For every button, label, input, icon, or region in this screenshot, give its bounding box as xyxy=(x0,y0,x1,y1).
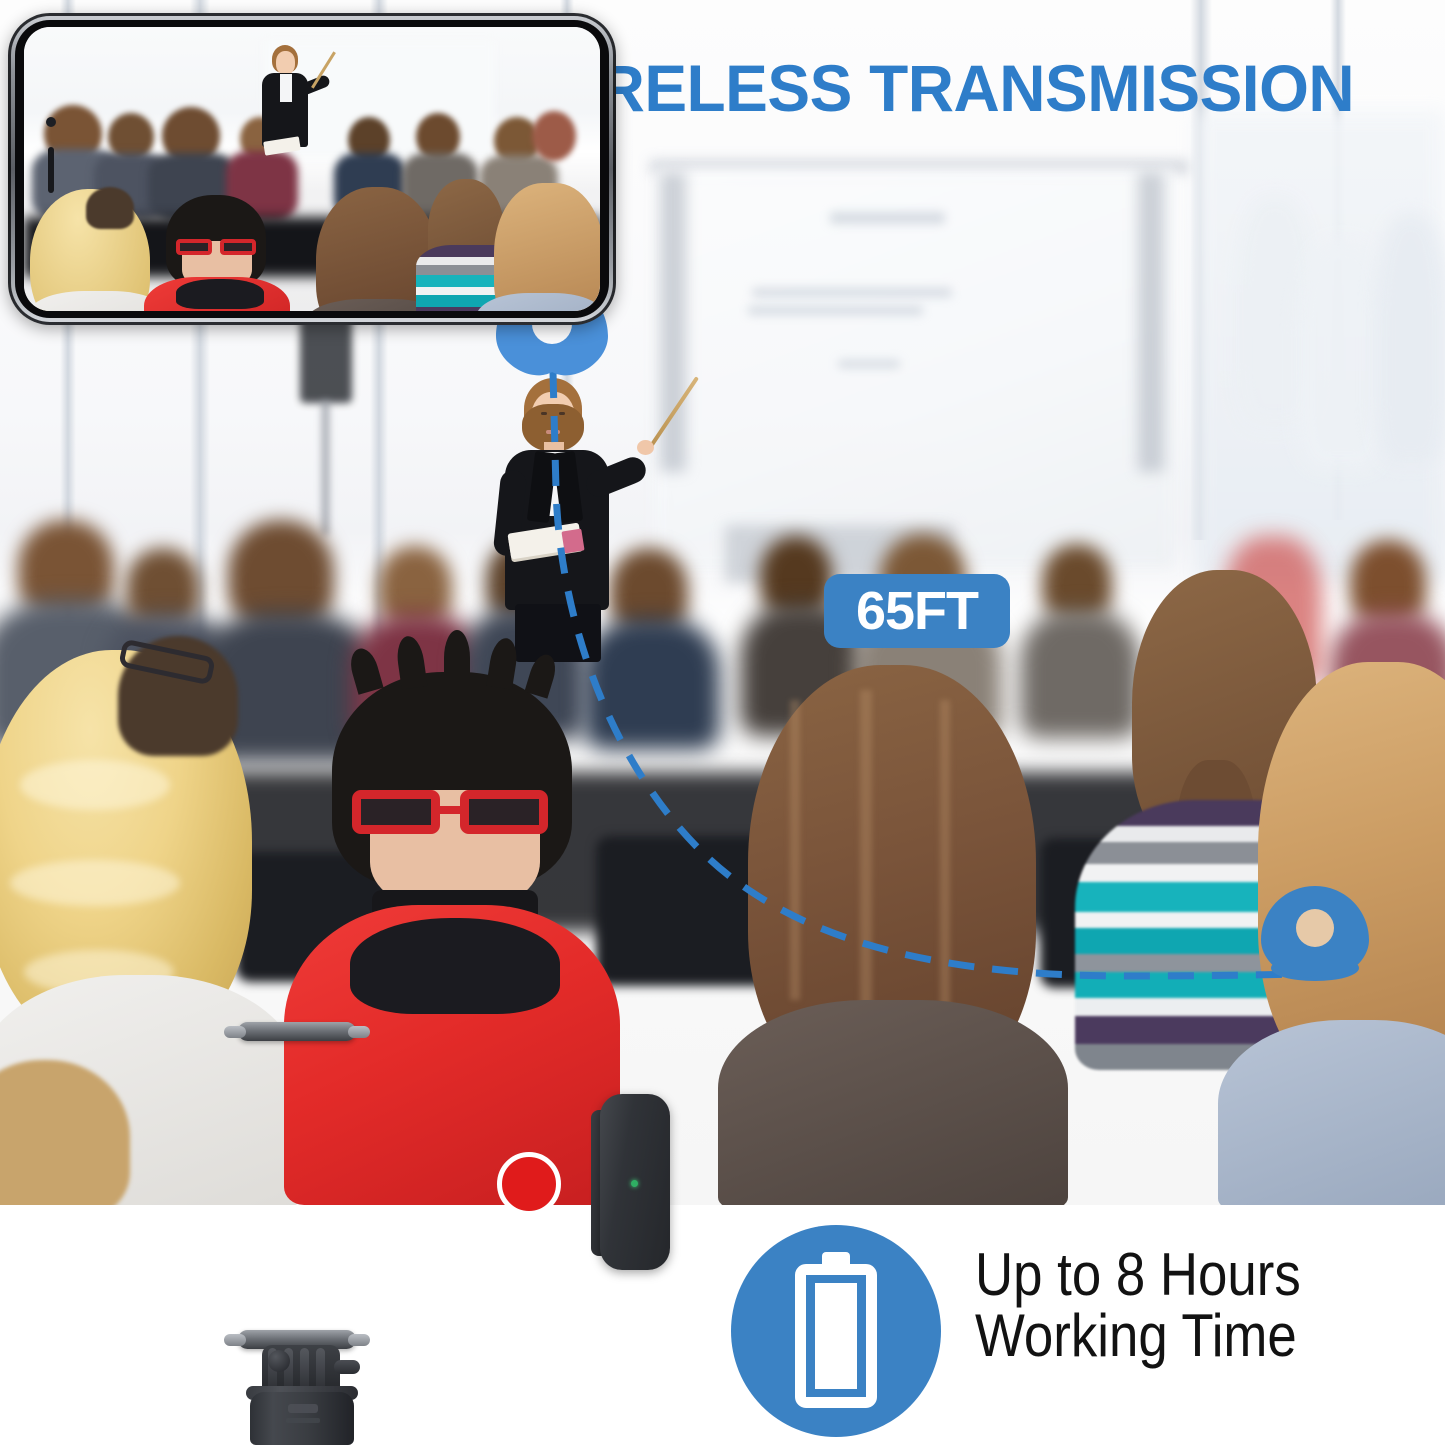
record-button[interactable] xyxy=(497,1152,561,1216)
front-camera-icon xyxy=(46,117,56,127)
tripod-lock-knob[interactable] xyxy=(334,1360,360,1374)
battery-feature-text: Up to 8 Hours Working Time xyxy=(975,1244,1380,1366)
earpiece-speaker xyxy=(48,147,54,193)
handle-button[interactable] xyxy=(288,1404,318,1413)
distance-badge: 65FT xyxy=(824,574,1010,648)
smartphone xyxy=(8,13,616,325)
red-eyeglasses xyxy=(352,790,552,834)
battery-line-1: Up to 8 Hours xyxy=(975,1241,1301,1308)
presenter-figure xyxy=(489,378,664,658)
status-led-icon xyxy=(631,1180,638,1187)
battery-line-2: Working Time xyxy=(975,1305,1380,1366)
phone-clamp-top xyxy=(238,1022,356,1041)
battery-icon xyxy=(795,1252,877,1408)
phone-screen[interactable] xyxy=(24,27,600,311)
product-marketing-image: 65FT 65FT STABLE WIRELESS TRANSMISSION xyxy=(0,0,1445,1445)
